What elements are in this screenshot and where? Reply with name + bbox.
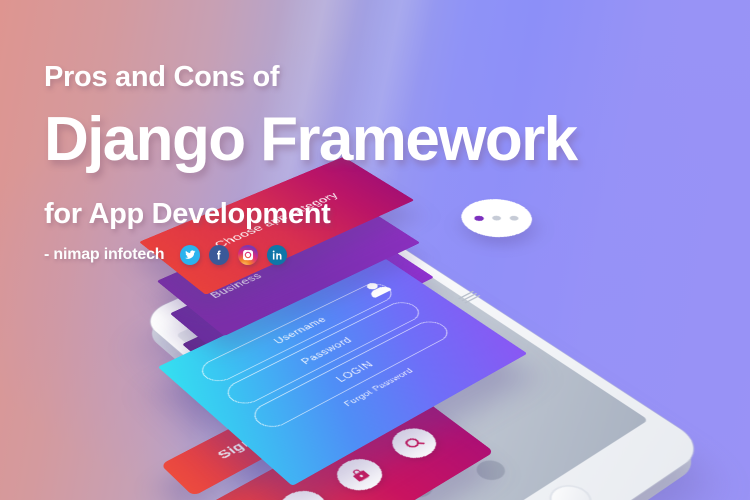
subtitle-text: for App Development <box>44 198 577 231</box>
eyebrow-text: Pros and Cons of <box>44 62 577 94</box>
linkedin-icon[interactable] <box>267 245 287 265</box>
social-links <box>180 245 287 265</box>
headline-block: Pros and Cons of Django Framework for Ap… <box>44 62 577 265</box>
twitter-icon[interactable] <box>180 245 200 265</box>
byline-text: - nimap infotech <box>44 246 164 264</box>
instagram-icon[interactable] <box>238 245 258 265</box>
dollar-icon[interactable] <box>270 485 335 500</box>
phone-home-button[interactable] <box>541 479 601 500</box>
page-title: Django Framework <box>44 109 577 171</box>
facebook-icon[interactable] <box>209 245 229 265</box>
byline-row: - nimap infotech <box>44 245 577 265</box>
